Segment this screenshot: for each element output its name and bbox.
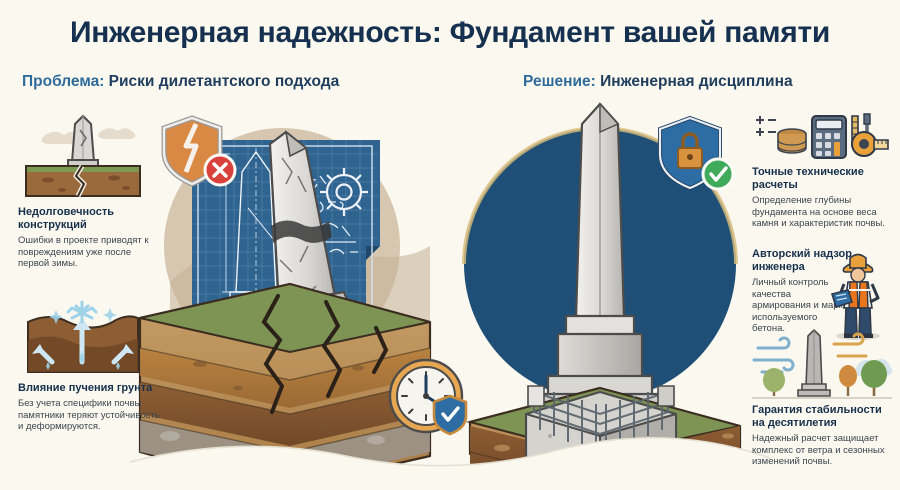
problem-card-durability-title: Недолговечность конструкций (18, 206, 160, 232)
solution-card-calculations: Точные технические расчеты Определение г… (752, 112, 894, 230)
snowflake-icon (68, 302, 96, 322)
solution-subtitle-keyword: Решение: (523, 73, 596, 90)
wind-lines-warm-icon (834, 334, 866, 356)
problem-subtitle-keyword: Проблема: (22, 73, 104, 90)
engineer-supervisor-icon (826, 250, 890, 340)
plus-minus-icon (756, 116, 776, 136)
problem-card-durability-body: Ошибки в проекте приводят к повреждениям… (18, 235, 160, 270)
solution-card-stability: Гарантия стабильности на десятилетия Над… (752, 404, 894, 468)
problem-subtitle-text: Риски дилетантского подхода (104, 73, 339, 90)
solution-card-stability-title: Гарантия стабильности на десятилетия (752, 404, 894, 430)
solution-subtitle: Решение: Инженерная дисциплина (523, 73, 793, 91)
solution-card-calculations-title: Точные технические расчеты (752, 166, 894, 192)
page-title: Инженерная надежность: Фундамент вашей п… (0, 16, 900, 50)
solution-card-calculations-body: Определение глубины фундамента на основе… (752, 195, 894, 230)
stable-obelisk-weather-icon (752, 330, 892, 402)
calculator-icon (812, 116, 846, 158)
solution-subtitle-text: Инженерная дисциплина (596, 73, 793, 90)
clock-with-shield-icon (390, 360, 466, 434)
frost-heave-icon (18, 300, 148, 376)
obelisk-icon (798, 330, 830, 396)
coin-stack-icon (778, 129, 806, 153)
problem-card-durability: Недолговечность конструкций Ошибки в про… (18, 114, 160, 270)
problem-card-frost-heave-title: Влияние пучения грунта (18, 382, 160, 395)
wind-lines-icon (754, 338, 793, 372)
problem-card-frost-heave: Влияние пучения грунта Без учета специфи… (18, 300, 160, 433)
tape-measure-icon (852, 132, 888, 156)
solution-card-stability-body: Надежный расчет защищает комплекс от вет… (752, 433, 894, 468)
calculator-tools-icon (752, 112, 882, 160)
infographic-canvas: Инженерная надежность: Фундамент вашей п… (0, 0, 900, 490)
cracked-shield-error-badge (158, 112, 246, 194)
cracked-monument-ground-icon (18, 114, 148, 200)
lock-shield-success-badge (652, 112, 744, 198)
problem-subtitle: Проблема: Риски дилетантского подхода (22, 73, 339, 91)
problem-card-frost-heave-body: Без учета специфики почвы памятники теря… (18, 398, 160, 433)
